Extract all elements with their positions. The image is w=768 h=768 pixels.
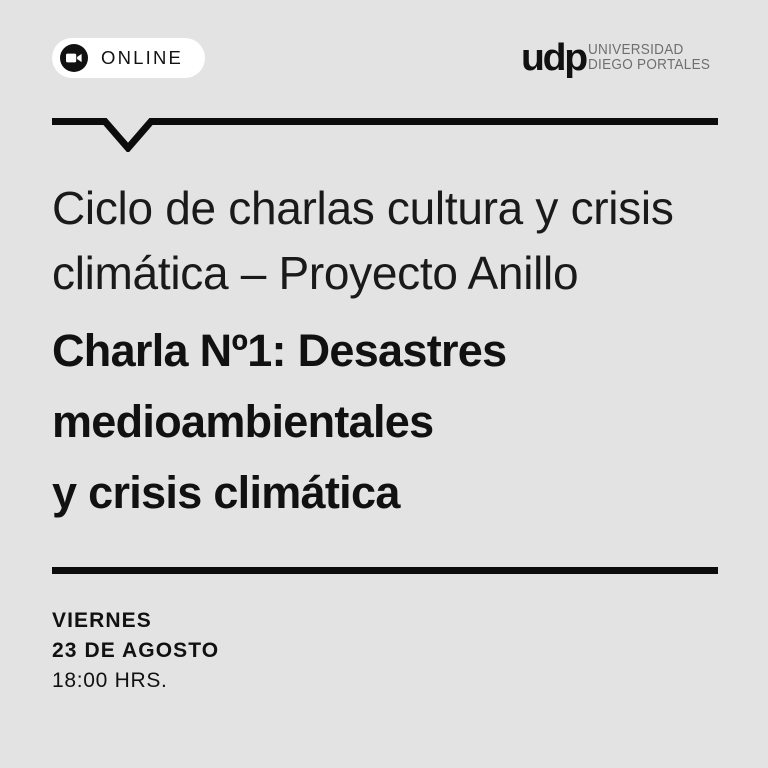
udp-logo-text: UNIVERSIDAD DIEGO PORTALES — [588, 43, 718, 73]
udp-wordmark: udp — [521, 39, 586, 77]
title-line-2: medioambientales — [52, 386, 712, 457]
poster-header: ONLINE udp UNIVERSIDAD DIEGO PORTALES — [52, 38, 718, 78]
event-date: 23 DE AGOSTO — [52, 636, 219, 666]
event-poster: ONLINE udp UNIVERSIDAD DIEGO PORTALES Ci… — [0, 0, 768, 768]
title-line-1: Charla Nº1: Desastres — [52, 315, 712, 386]
title-line-3: y crisis climática — [52, 457, 712, 528]
udp-logo-line-1: UNIVERSIDAD — [588, 43, 710, 58]
event-time: 18:00 HRS. — [52, 666, 219, 696]
online-label: ONLINE — [101, 49, 183, 68]
udp-logo: udp UNIVERSIDAD DIEGO PORTALES — [521, 39, 718, 77]
poster-title: Charla Nº1: Desastres medioambientales y… — [52, 315, 712, 528]
poster-subtitle: Ciclo de charlas cultura y crisis climát… — [52, 176, 742, 307]
udp-logo-line-2: DIEGO PORTALES — [588, 58, 710, 73]
event-details: VIERNES 23 DE AGOSTO 18:00 HRS. — [52, 606, 219, 696]
online-badge: ONLINE — [52, 38, 205, 78]
subtitle-line-1: Ciclo de charlas cultura y crisis — [52, 176, 742, 241]
divider — [52, 567, 718, 574]
video-camera-icon — [60, 44, 88, 72]
subtitle-line-2: climática – Proyecto Anillo — [52, 241, 742, 306]
notched-divider — [52, 118, 718, 152]
event-day: VIERNES — [52, 606, 219, 636]
